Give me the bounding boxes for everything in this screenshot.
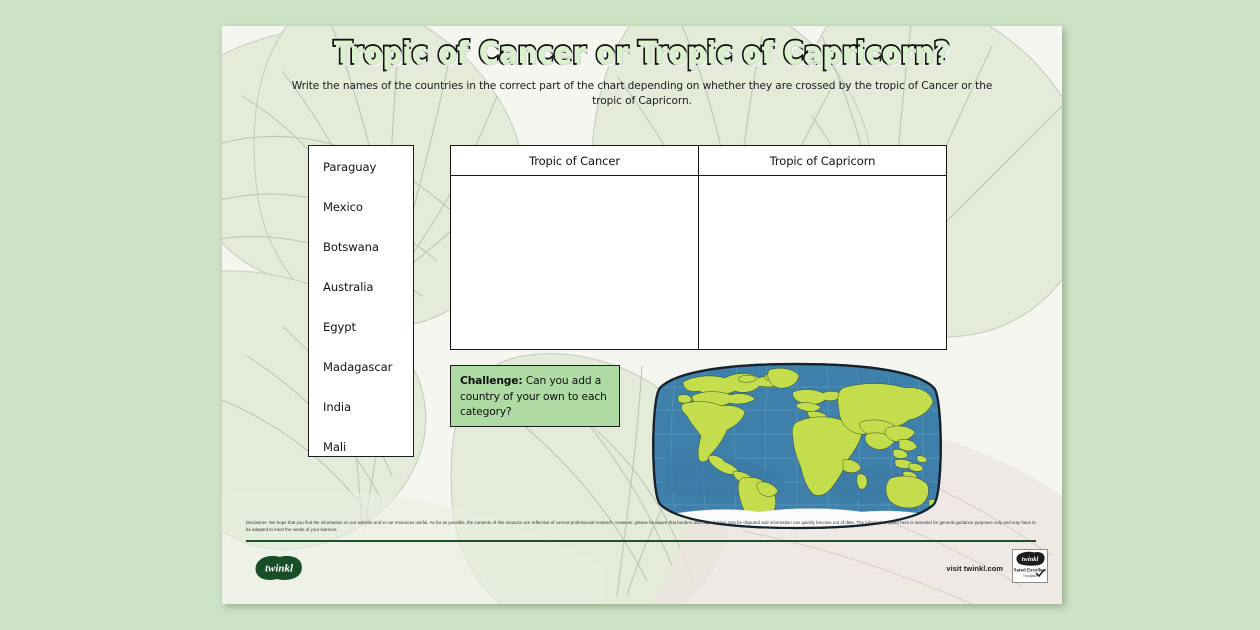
answer-cell-tropic-of-cancer[interactable] xyxy=(451,176,698,349)
list-item: Paraguay xyxy=(323,157,413,197)
list-item: India xyxy=(323,397,413,437)
table-body-row xyxy=(451,176,946,349)
challenge-text: Challenge: Can you add a country of your… xyxy=(460,373,610,420)
list-item: Mali xyxy=(323,437,413,477)
svg-text:Rated Excellent: Rated Excellent xyxy=(1014,568,1046,573)
country-list-box: Paraguay Mexico Botswana Australia Egypt… xyxy=(308,145,414,457)
list-item: Mexico xyxy=(323,197,413,237)
list-item: Egypt xyxy=(323,317,413,357)
disclaimer-text: Disclaimer: We hope that you find the in… xyxy=(246,520,1036,533)
svg-text:twinkl: twinkl xyxy=(1022,556,1039,563)
footer-divider xyxy=(246,540,1036,542)
list-item: Australia xyxy=(323,277,413,317)
twinkl-logo[interactable]: twinkl xyxy=(253,555,305,581)
sorting-table: Tropic of Cancer Tropic of Capricorn xyxy=(450,145,947,350)
answer-cell-tropic-of-capricorn[interactable] xyxy=(698,176,946,349)
page-subtitle: Write the names of the countries in the … xyxy=(222,79,1062,108)
visit-twinkl-link[interactable]: visit twinkl.com xyxy=(946,564,1003,573)
svg-text:Trustpilot: Trustpilot xyxy=(1023,574,1037,578)
list-item: Madagascar xyxy=(323,357,413,397)
challenge-box: Challenge: Can you add a country of your… xyxy=(450,365,620,427)
title-block: Tropic of Cancer or Tropic of Capricorn?… xyxy=(222,38,1062,108)
page-title: Tropic of Cancer or Tropic of Capricorn? xyxy=(334,36,950,71)
svg-text:twinkl: twinkl xyxy=(265,563,294,575)
column-header-tropic-of-capricorn: Tropic of Capricorn xyxy=(698,146,946,175)
list-item: Botswana xyxy=(323,237,413,277)
rated-excellent-badge: twinkl Rated Excellent Trustpilot xyxy=(1012,549,1048,583)
worksheet-page: Tropic of Cancer or Tropic of Capricorn?… xyxy=(222,26,1062,604)
world-map-image xyxy=(647,360,947,532)
column-header-tropic-of-cancer: Tropic of Cancer xyxy=(451,146,698,175)
challenge-label: Challenge: xyxy=(460,374,523,387)
table-header-row: Tropic of Cancer Tropic of Capricorn xyxy=(451,146,946,176)
